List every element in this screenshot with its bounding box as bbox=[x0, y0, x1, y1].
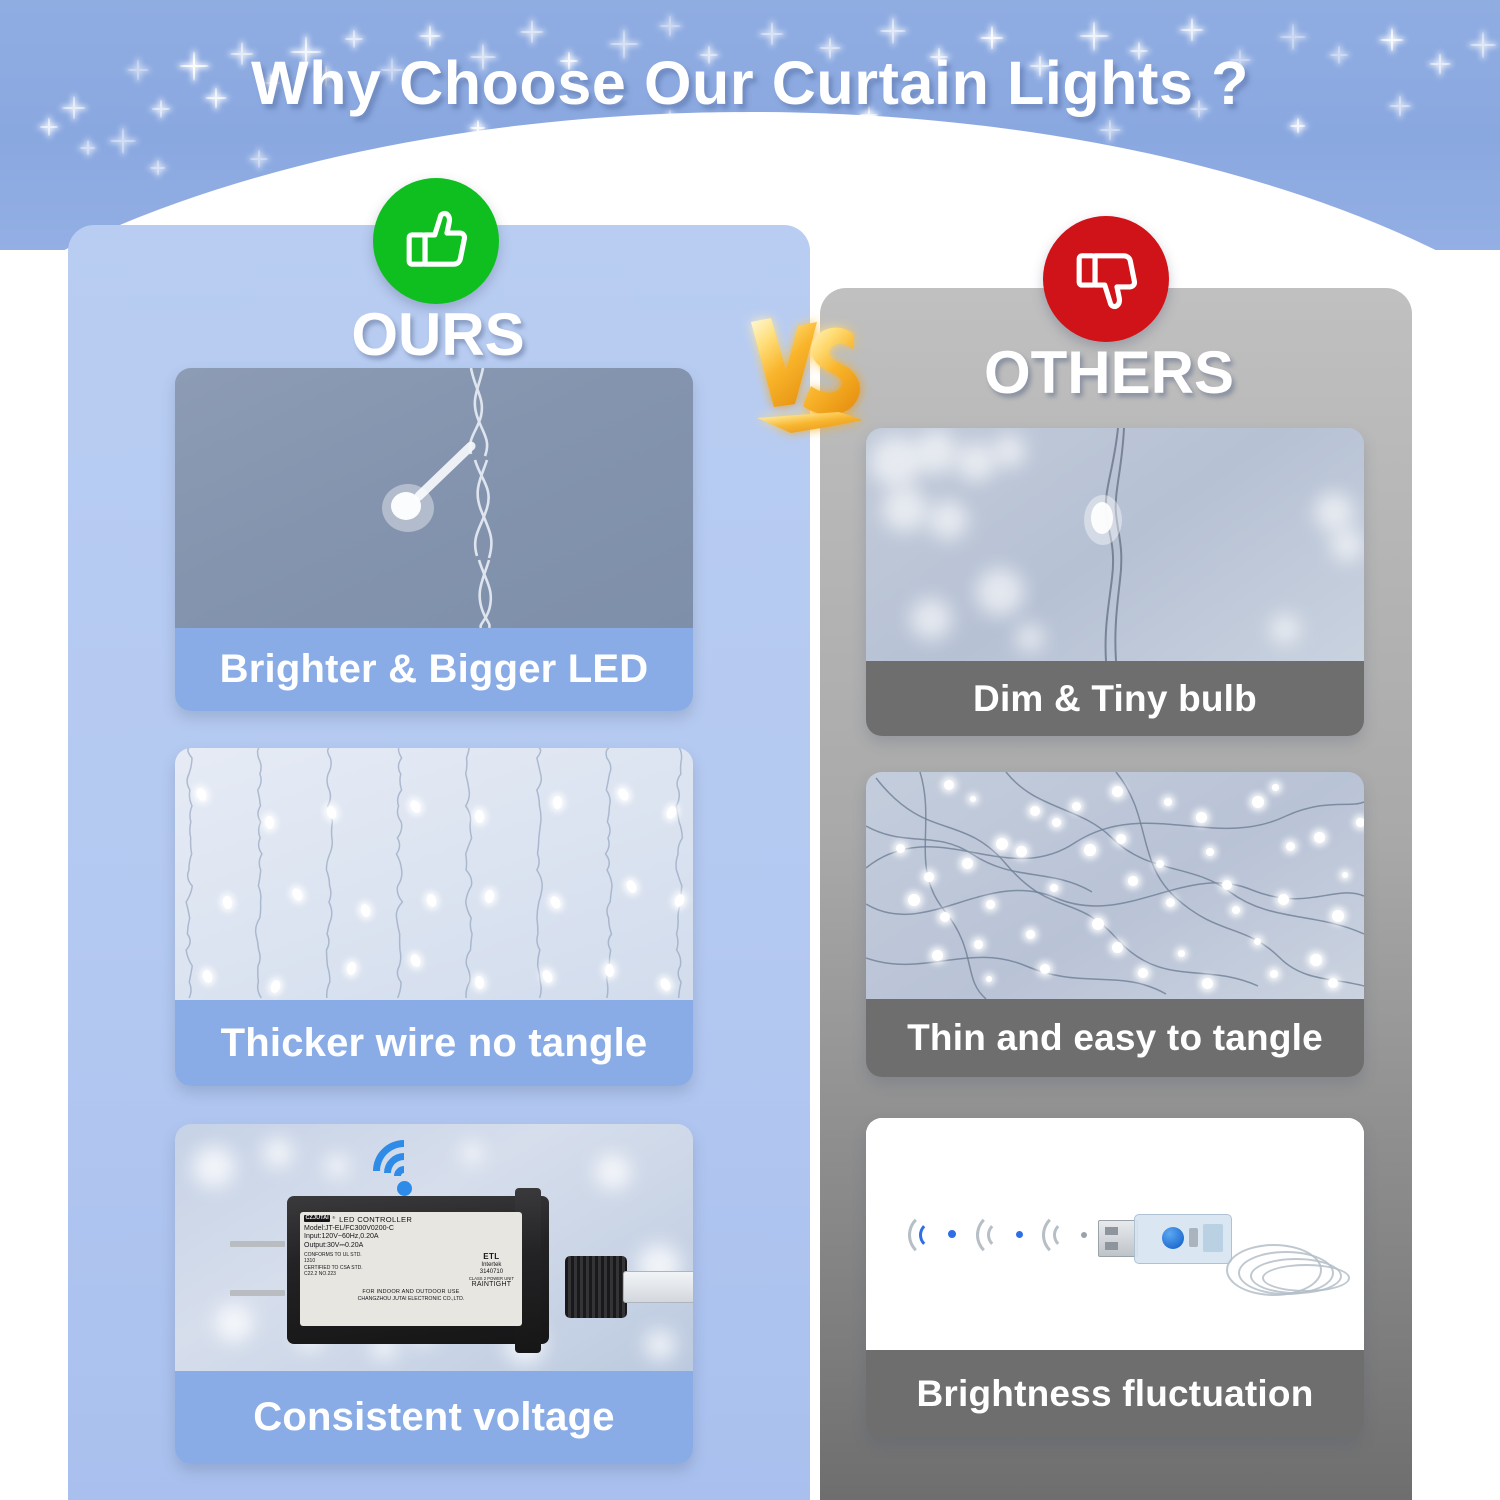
led-dot bbox=[1252, 796, 1264, 808]
sparkle-star bbox=[250, 150, 268, 168]
others-card-3: Brightness fluctuation bbox=[866, 1118, 1364, 1438]
controller-usage: FOR INDOOR AND OUTDOOR USE bbox=[304, 1289, 518, 1296]
others-card-2: Thin and easy to tangle bbox=[866, 772, 1364, 1077]
bokeh-light bbox=[325, 1154, 349, 1178]
led-dot bbox=[1128, 876, 1138, 886]
page-title: Why Choose Our Curtain Lights ? bbox=[0, 48, 1500, 118]
controller-brand: CZJUTAI bbox=[304, 1215, 330, 1222]
led-dot bbox=[974, 940, 983, 949]
page-header bbox=[0, 0, 1500, 250]
vs-badge bbox=[735, 300, 885, 450]
ours-card-2-photo bbox=[175, 748, 693, 1000]
bokeh-light bbox=[461, 1142, 483, 1164]
sparkle-star bbox=[150, 160, 166, 176]
led-dot bbox=[1328, 978, 1338, 988]
others-card-1-photo bbox=[866, 428, 1364, 661]
bokeh-light bbox=[1314, 492, 1354, 532]
led-dot bbox=[1206, 848, 1214, 856]
intertek-number: 3140710 bbox=[469, 1269, 514, 1276]
bokeh-light bbox=[1330, 528, 1364, 562]
sparkle-star bbox=[1290, 118, 1306, 134]
sparkle-star bbox=[80, 140, 96, 156]
led-dot bbox=[924, 872, 934, 882]
led-dot bbox=[1040, 964, 1050, 974]
led-dot bbox=[1072, 802, 1081, 811]
controller-certified-num: C22.2 NO.223 bbox=[304, 1271, 363, 1277]
led-dot bbox=[986, 900, 995, 909]
ours-card-2: Thicker wire no tangle bbox=[175, 748, 693, 1086]
bokeh-light bbox=[910, 598, 952, 640]
led-dot bbox=[1092, 918, 1104, 930]
bokeh-light bbox=[992, 434, 1026, 468]
led-dot bbox=[1178, 950, 1185, 957]
led-dot bbox=[1332, 910, 1344, 922]
controller-output: Output:30V⎓0.20A bbox=[304, 1242, 518, 1251]
led-dot bbox=[1116, 834, 1126, 844]
sparkle-star bbox=[1180, 18, 1203, 41]
bokeh-light bbox=[1016, 624, 1044, 652]
sparkle-star bbox=[110, 128, 136, 154]
thumbs-up-icon bbox=[373, 178, 499, 304]
controller-product: LED CONTROLLER bbox=[339, 1215, 412, 1225]
bokeh-light bbox=[263, 1138, 293, 1168]
led-dot bbox=[1016, 846, 1027, 857]
ours-card-1-photo bbox=[175, 368, 693, 628]
ours-card-2-caption: Thicker wire no tangle bbox=[175, 1000, 693, 1086]
thumbs-down-icon bbox=[1043, 216, 1169, 342]
others-card-2-photo bbox=[866, 772, 1364, 999]
controller-spec-label: CZJUTAI ® LED CONTROLLER Model:JT-EL/FC3… bbox=[300, 1212, 522, 1326]
led-dot bbox=[1196, 812, 1207, 823]
led-dot bbox=[1026, 930, 1035, 939]
bokeh-light bbox=[215, 1304, 253, 1342]
led-dot bbox=[1314, 832, 1325, 843]
sparkle-star bbox=[1100, 120, 1121, 141]
sparkle-star bbox=[520, 20, 543, 43]
sparkle-star bbox=[880, 18, 906, 44]
controller-registered-mark: ® bbox=[332, 1215, 335, 1220]
sparkle-star bbox=[1080, 22, 1109, 51]
ours-card-3-caption: Consistent voltage bbox=[175, 1371, 693, 1464]
bokeh-light bbox=[956, 442, 996, 482]
sparkle-star bbox=[660, 16, 681, 37]
ours-card-1: Brighter & Bigger LED bbox=[175, 368, 693, 711]
sparkle-star bbox=[760, 22, 783, 45]
bokeh-light bbox=[193, 1146, 235, 1188]
ours-column-label: OURS bbox=[343, 300, 533, 369]
bokeh-light bbox=[645, 1330, 675, 1360]
others-card-2-caption: Thin and easy to tangle bbox=[866, 999, 1364, 1077]
sparkle-star bbox=[420, 26, 441, 47]
others-card-1: Dim & Tiny bulb bbox=[866, 428, 1364, 736]
bokeh-light bbox=[595, 1154, 631, 1190]
raintight-mark: RAINTIGHT bbox=[469, 1281, 514, 1289]
sparkle-star bbox=[1280, 24, 1306, 50]
led-dot bbox=[1164, 798, 1172, 806]
ours-card-1-caption: Brighter & Bigger LED bbox=[175, 628, 693, 711]
led-dot bbox=[1084, 844, 1096, 856]
others-card-3-photo bbox=[866, 1118, 1364, 1350]
led-dot bbox=[896, 844, 905, 853]
ours-card-3: CZJUTAI ® LED CONTROLLER Model:JT-EL/FC3… bbox=[175, 1124, 693, 1464]
led-dot bbox=[908, 894, 920, 906]
controller-company: CHANGZHOU JUTAI ELECTRONIC CO.,LTD. bbox=[304, 1296, 518, 1303]
controller-input: Input:120V~60Hz,0.20A bbox=[304, 1233, 518, 1242]
sparkle-star bbox=[345, 30, 363, 48]
led-dot bbox=[1202, 978, 1213, 989]
bokeh-light bbox=[1270, 614, 1300, 644]
others-card-1-caption: Dim & Tiny bulb bbox=[866, 661, 1364, 736]
others-card-3-caption: Brightness fluctuation bbox=[866, 1350, 1364, 1438]
bokeh-light bbox=[882, 486, 928, 532]
led-dot bbox=[996, 838, 1008, 850]
led-dot bbox=[1310, 954, 1322, 966]
led-dot bbox=[1112, 786, 1123, 797]
controller-certified: CERTIFIED TO CSA STD. bbox=[304, 1265, 363, 1271]
controller-model: Model:JT-EL/FC300V0200-C bbox=[304, 1225, 518, 1234]
led-dot bbox=[1270, 970, 1278, 978]
intertek-name: Intertek bbox=[469, 1262, 514, 1269]
others-column-label: OTHERS bbox=[975, 338, 1243, 407]
usb-connector-icon bbox=[1098, 1220, 1138, 1257]
sparkle-star bbox=[980, 26, 1003, 49]
sparkle-star bbox=[40, 118, 58, 136]
led-dot bbox=[1272, 784, 1279, 791]
led-dot bbox=[932, 950, 943, 961]
etl-mark: ETL bbox=[469, 1252, 514, 1262]
bokeh-light bbox=[914, 430, 958, 474]
bokeh-light bbox=[928, 500, 968, 540]
ours-card-3-photo: CZJUTAI ® LED CONTROLLER Model:JT-EL/FC3… bbox=[175, 1124, 693, 1371]
bokeh-light bbox=[976, 568, 1024, 616]
led-dot bbox=[1356, 818, 1364, 827]
